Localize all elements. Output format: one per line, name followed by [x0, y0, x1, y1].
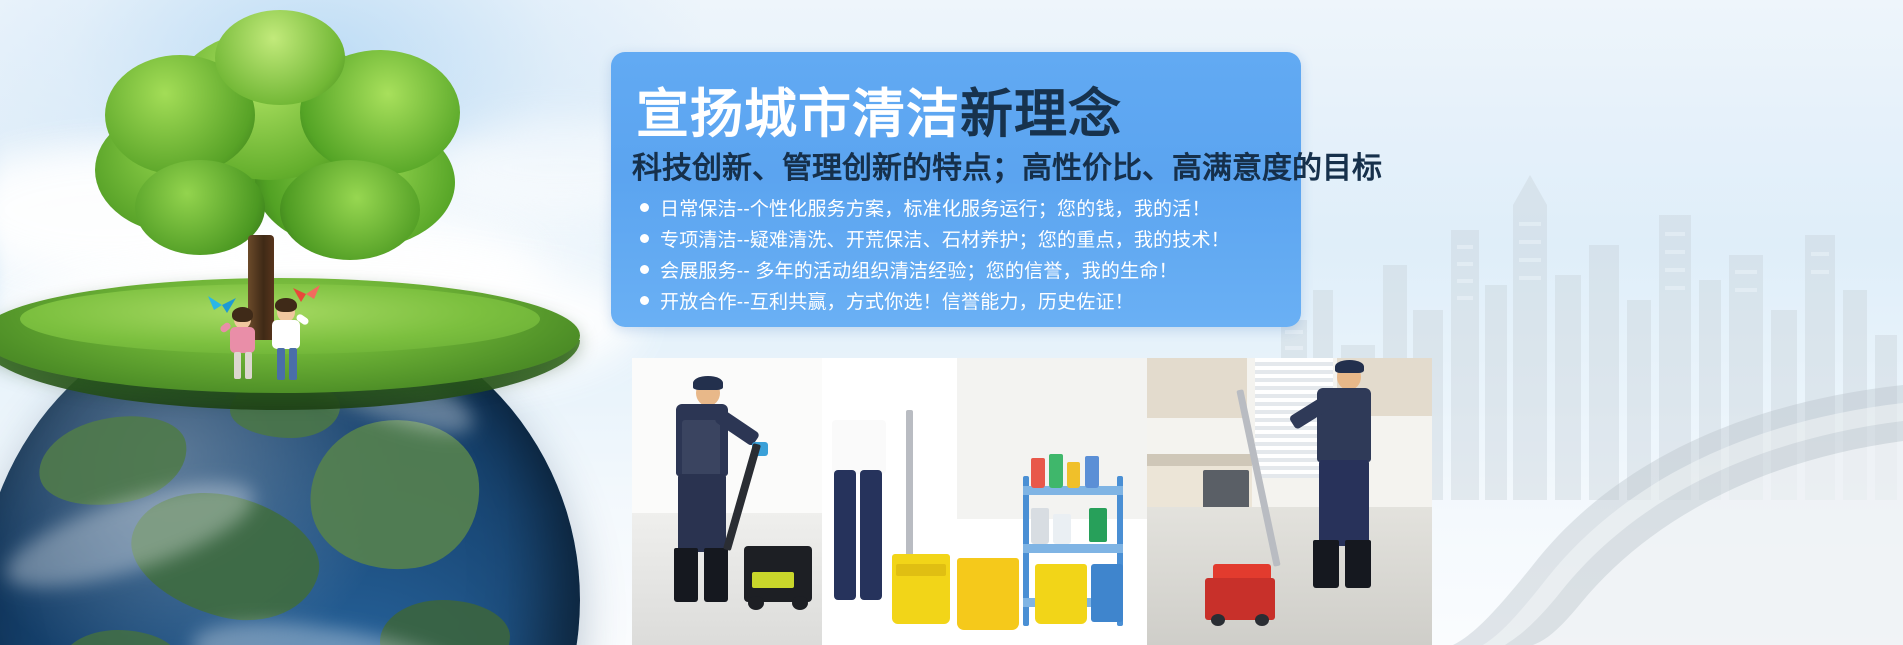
photo-cleaning-cart-supplies [957, 358, 1147, 645]
list-item: 专项清洁--疑难清洗、开荒保洁、石材养护；您的重点，我的技术！ [640, 223, 1330, 254]
detergent-bottle [1031, 508, 1049, 544]
scrubber-panel [752, 572, 794, 588]
kitchen-counter [1147, 454, 1252, 466]
bucket-wringer [896, 564, 946, 576]
photo-mop-bucket-trolley [822, 358, 957, 645]
worker-apron [682, 420, 720, 480]
child-right [265, 302, 309, 384]
detergent-bottle [1053, 514, 1071, 544]
worker-cap [693, 376, 723, 390]
photo-strip [632, 358, 1432, 645]
photo-kitchen-floor-mopping-worker [1147, 358, 1432, 645]
bucket-wheel [1255, 614, 1269, 626]
worker-boot [1345, 540, 1371, 588]
list-item: 会展服务-- 多年的活动组织清洁经验；您的信誉，我的生命！ [640, 254, 1330, 285]
list-item-label: 开放合作--互利共赢，方式你选！信誉能力，历史佐证！ [660, 287, 1134, 314]
navy-trousers [834, 470, 856, 600]
yellow-bucket [957, 558, 1019, 630]
child-leg [245, 352, 252, 379]
worker-boot [674, 548, 698, 602]
bucket-wheel [1211, 614, 1225, 626]
green-brush [1089, 508, 1107, 542]
tree-foliage [280, 160, 420, 260]
earth-graphic [0, 270, 600, 645]
list-item: 开放合作--互利共赢，方式你选！信誉能力，历史佐证！ [640, 285, 1330, 316]
worker-boot [704, 548, 728, 602]
worker-cap [1335, 360, 1364, 373]
spray-bottle [1031, 458, 1045, 488]
spray-bottle [1049, 454, 1063, 488]
bullet-dot-icon [640, 296, 649, 305]
worker-pants [678, 474, 726, 552]
bullet-dot-icon [640, 265, 649, 274]
worker [660, 380, 750, 610]
pinwheel-icon [290, 278, 322, 310]
subtitle: 科技创新、管理创新的特点；高性价比、高满意度的目标 [632, 143, 1382, 187]
headline-white-part: 宣扬城市清洁 [636, 85, 960, 144]
scrubber-wheel [792, 596, 808, 610]
mop-handle [906, 410, 913, 560]
child-leg [234, 352, 241, 379]
photo-floor-scrubber-worker [632, 358, 822, 645]
spray-bottle [1067, 462, 1080, 488]
child-shirt [272, 320, 300, 349]
worker-pants [1319, 460, 1369, 546]
child-shirt [230, 327, 255, 353]
yellow-bucket [1035, 564, 1087, 624]
worker-boot [1313, 540, 1339, 588]
list-item-label: 日常保洁--个性化服务方案，标准化服务运行；您的钱，我的活！ [660, 194, 1211, 221]
continent [300, 409, 489, 581]
feature-list: 日常保洁--个性化服务方案，标准化服务运行；您的钱，我的活！ 专项清洁--疑难清… [640, 192, 1330, 316]
list-item: 日常保洁--个性化服务方案，标准化服务运行；您的钱，我的活！ [640, 192, 1330, 223]
hero-banner: 宣扬城市清洁新理念 科技创新、管理创新的特点；高性价比、高满意度的目标 日常保洁… [0, 0, 1903, 645]
headline-dark-part: 新理念 [960, 85, 1122, 144]
blue-bin [1091, 564, 1123, 622]
continent [380, 600, 510, 645]
bullet-dot-icon [640, 203, 649, 212]
white-uniform [832, 420, 886, 474]
child-leg [289, 348, 297, 380]
bullet-dot-icon [640, 234, 649, 243]
list-item-label: 会展服务-- 多年的活动组织清洁经验；您的信誉，我的生命！ [660, 256, 1178, 283]
page-title: 宣扬城市清洁新理念 [636, 72, 1122, 148]
tree-foliage [135, 160, 265, 255]
worker [1295, 364, 1405, 624]
pinwheel-icon [205, 288, 239, 322]
navy-trousers [860, 470, 882, 600]
spray-bottle [1085, 456, 1099, 488]
list-item-label: 专项清洁--疑难清洗、开荒保洁、石材养护；您的重点，我的技术！ [660, 225, 1230, 252]
continent [60, 630, 180, 645]
tree-foliage [215, 10, 345, 105]
scrubber-wheel [748, 596, 764, 610]
child-leg [277, 348, 285, 380]
kitchen-cabinet [1147, 358, 1247, 418]
cart-shelf [1023, 544, 1123, 553]
